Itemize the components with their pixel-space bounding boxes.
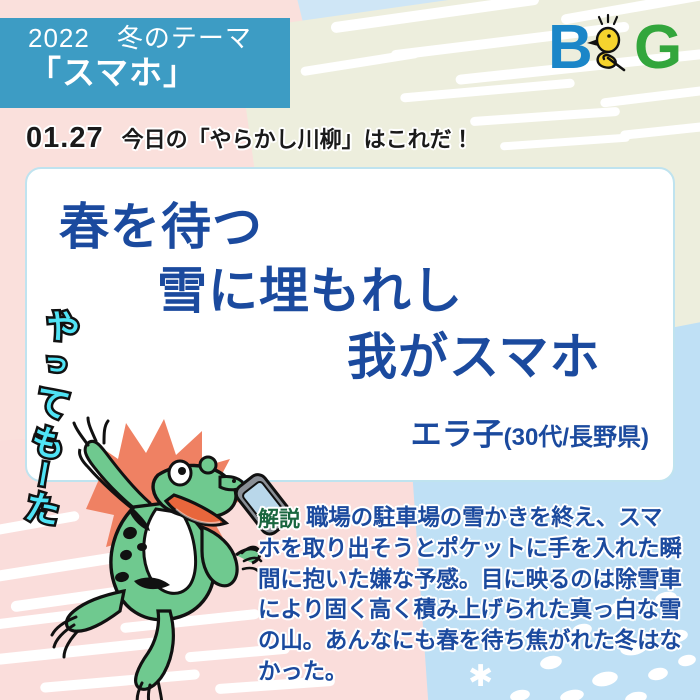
poem-author: エラ子(30代/長野県) <box>411 409 649 454</box>
theme-name-label: 「スマホ」 <box>28 54 290 92</box>
poem-author-name: エラ子 <box>411 417 504 452</box>
theme-banner: 2022 冬のテーマ 「スマホ」 <box>0 18 290 108</box>
bandg-logo[interactable]: B G <box>546 12 686 80</box>
date-row: 01.27 今日の「やらかし川柳」はこれだ！ <box>26 122 474 155</box>
date-value: 01.27 <box>26 122 104 155</box>
date-caption: 今日の「やらかし川柳」はこれだ！ <box>122 122 474 154</box>
logo-letter-b: B <box>548 13 593 80</box>
poem-line-1: 春を待つ <box>59 187 263 259</box>
poem-author-meta: (30代/長野県) <box>504 424 649 451</box>
poem-line-2: 雪に埋もれし <box>157 251 463 323</box>
frog-right-leg <box>136 611 174 689</box>
logo-letter-g: G <box>634 13 682 80</box>
poster-canvas: ✱ 2022 冬のテーマ 「スマホ」 B G <box>0 0 700 700</box>
theme-year-label: 2022 冬のテーマ <box>28 24 290 54</box>
explanation-block: 解説職場の駐車場の雪かきを終え、スマホを取り出そうとポケットに手を入れた瞬間に抱… <box>258 503 683 688</box>
poem-line-3: 我がスマホ <box>347 317 601 389</box>
explanation-body: 職場の駐車場の雪かきを終え、スマホを取り出そうとポケットに手を入れた瞬間に抱いた… <box>258 505 682 684</box>
explanation-label: 解説 <box>258 503 300 533</box>
